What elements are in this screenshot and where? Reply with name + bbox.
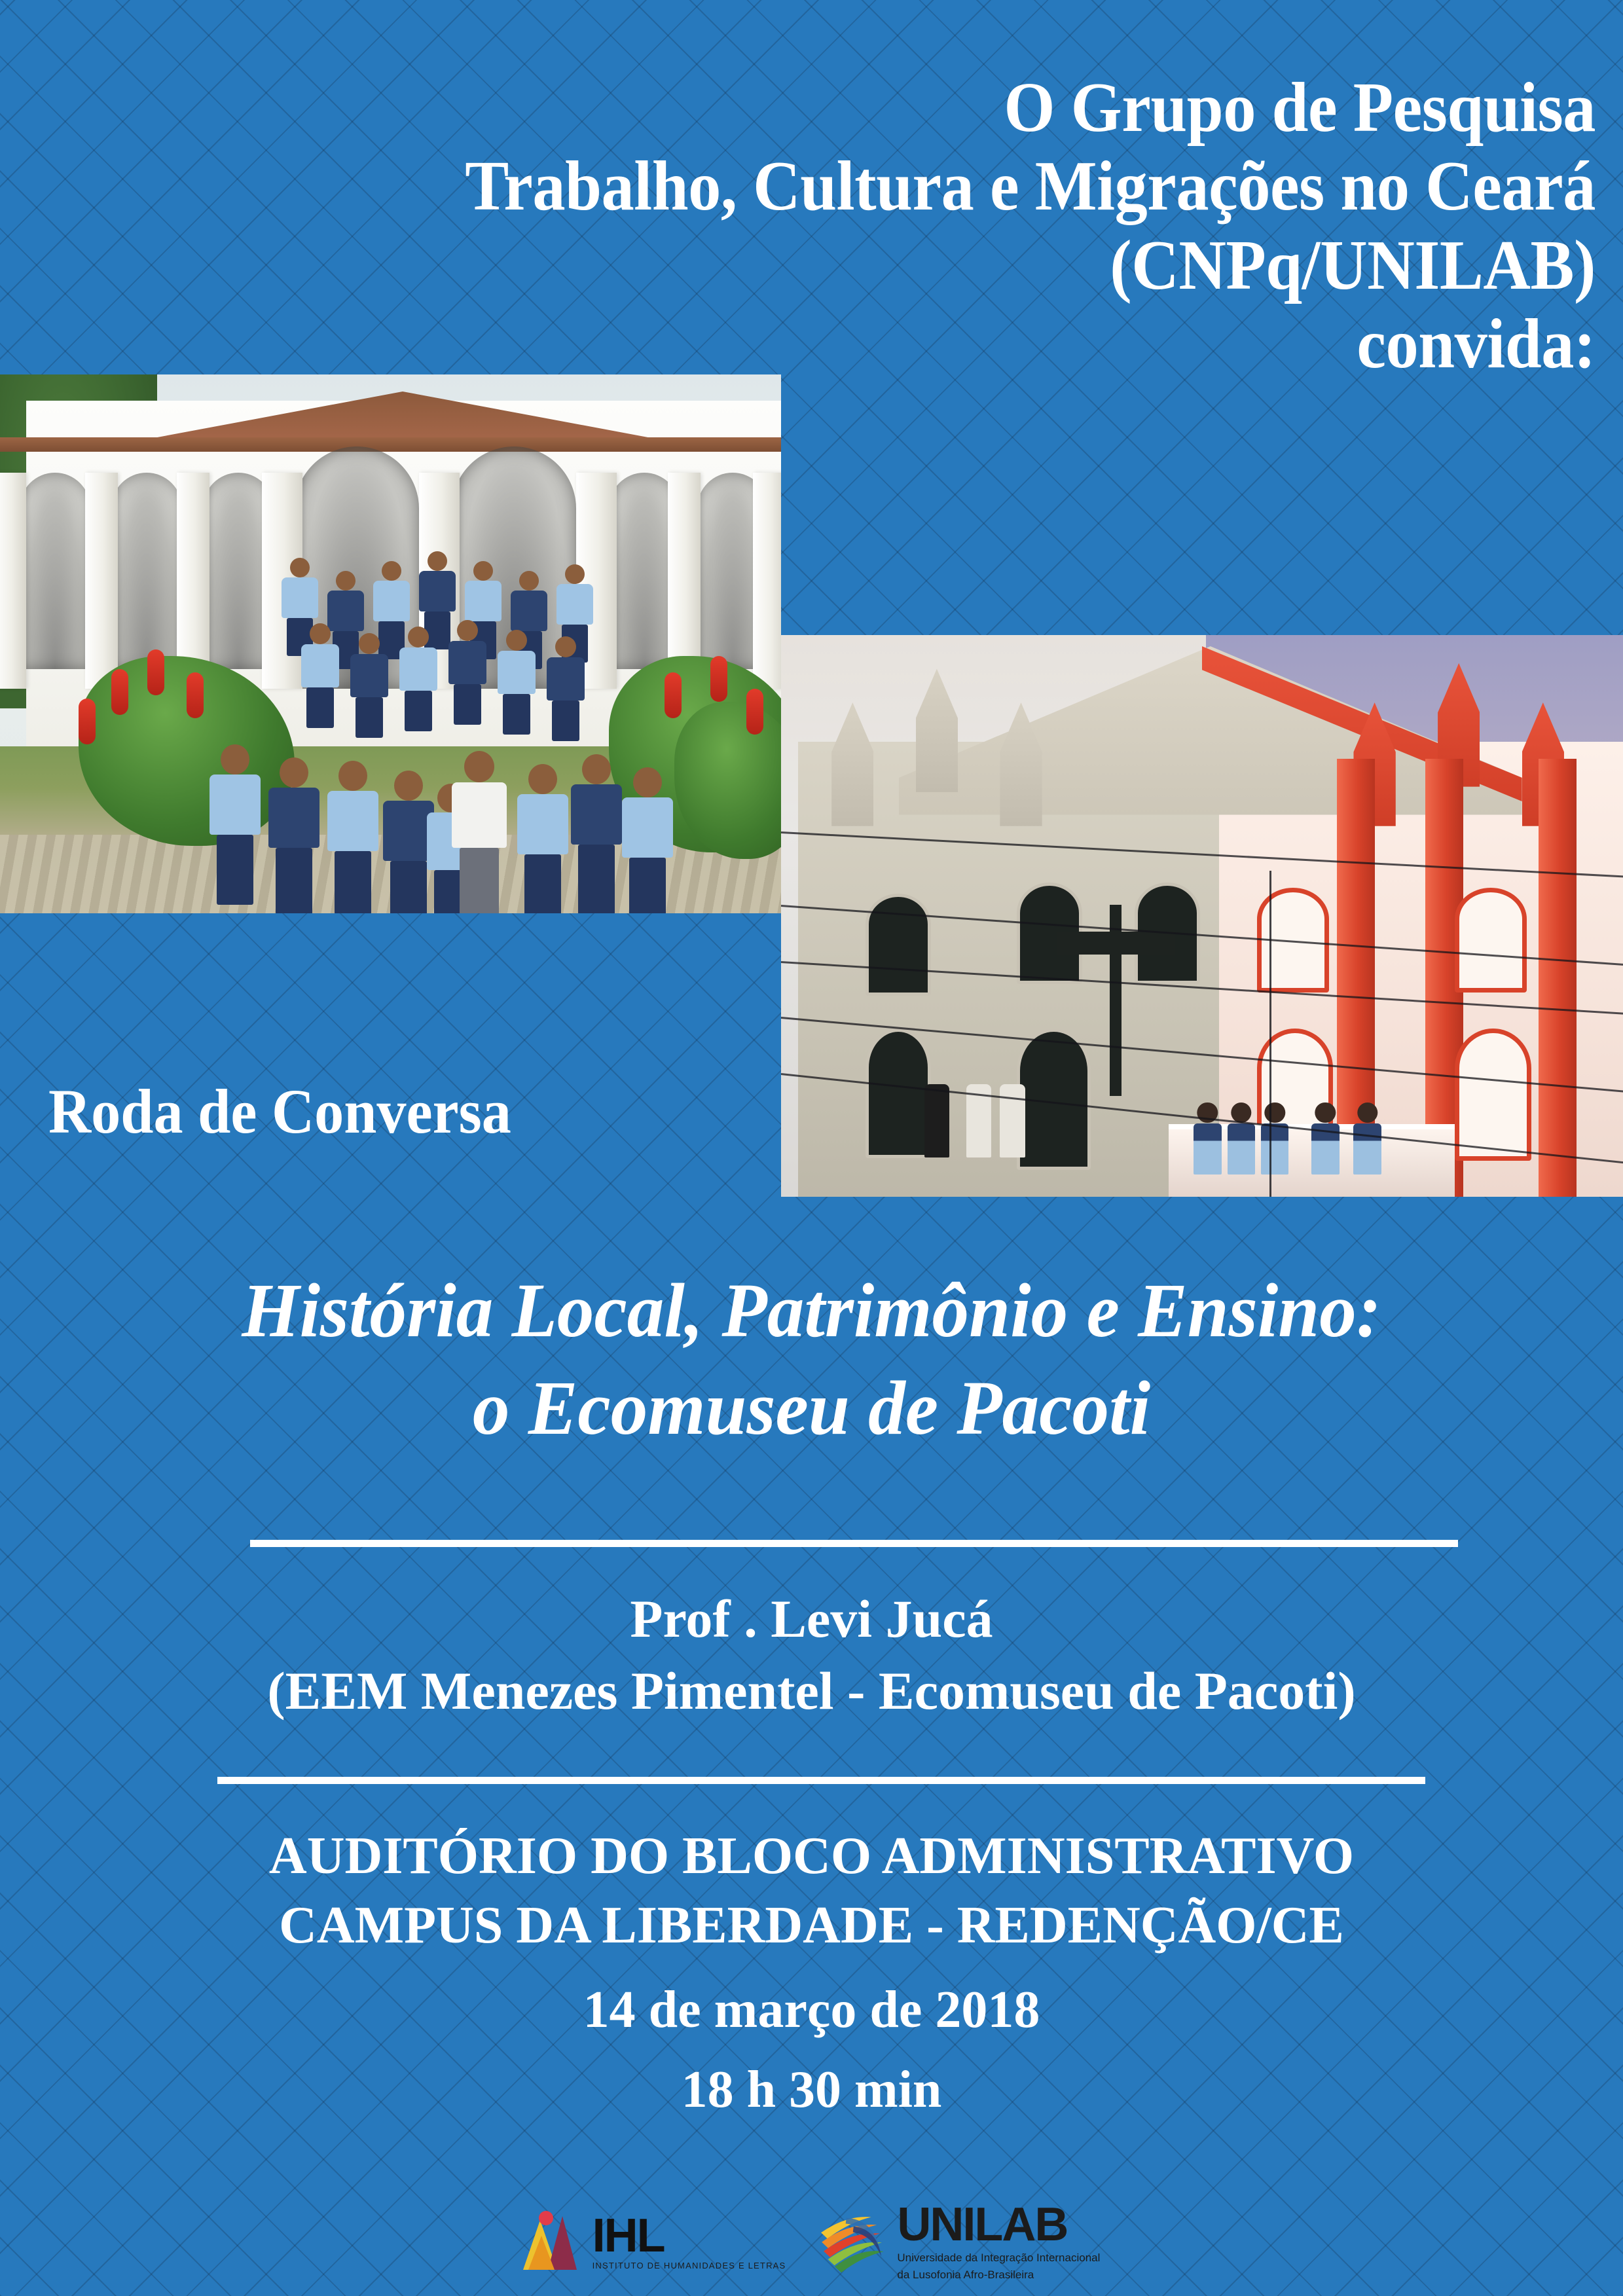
church-crucifix [1110,905,1122,1096]
church-window [866,894,931,996]
church-historic-figure [1000,1084,1025,1157]
church-flagpole [1269,871,1271,1197]
church-door [866,1029,931,1159]
students-group-photo [0,374,781,913]
photo-flower [111,669,128,715]
divider-below-speaker [217,1777,1425,1784]
photo-column [0,473,26,689]
photo-flower [710,656,727,702]
photo-student [210,744,261,905]
photo-column [85,473,118,689]
church-student [1261,1123,1288,1174]
photo-student [498,630,536,735]
photo-student [268,757,319,913]
photo-student [399,627,437,731]
header-line-2: Trabalho, Cultura e Migrações no Ceará [439,149,1596,224]
unilab-subtitle-line-2: da Lusofonia Afro-Brasileira [897,2268,1100,2282]
photo-student [350,633,388,738]
photo-flower [746,689,763,735]
church-student [1194,1123,1221,1174]
ihl-wordmark: IHL [593,2214,786,2259]
church-student [1228,1123,1255,1174]
photo-student [622,767,673,913]
unilab-logo: UNILAB Universidade da Integração Intern… [816,2202,1100,2282]
header-block: O Grupo de Pesquisa Trabalho, Cultura e … [352,71,1596,386]
photo-student [301,623,339,728]
speaker-affiliation: (EEM Menezes Pimentel - Ecomuseu de Paco… [0,1658,1623,1724]
ihl-logo: IHL INSTITUTO DE HUMANIDADES E LETRAS [523,2211,786,2274]
photo-flower [187,672,204,718]
logo-bar: IHL INSTITUTO DE HUMANIDADES E LETRAS [0,2202,1623,2282]
photo-flower [147,649,164,695]
poster-canvas: O Grupo de Pesquisa Trabalho, Cultura e … [0,0,1623,2296]
photo-column [753,473,781,689]
photo-teacher [452,751,507,913]
unilab-globe-icon [816,2208,888,2276]
photo-student [517,764,568,913]
ihl-subtitle: INSTITUTO DE HUMANIDADES E LETRAS [593,2261,786,2270]
speaker-name: Prof . Levi Jucá [0,1586,1623,1652]
ihl-text: IHL INSTITUTO DE HUMANIDADES E LETRAS [593,2214,786,2270]
event-title-line-2: o Ecomuseu de Pacoti [33,1360,1591,1457]
photo-student [547,636,585,741]
photo-arch [20,473,90,669]
photo-student [448,620,486,725]
photo-student [571,754,622,913]
church-door [1455,1029,1531,1161]
unilab-text: UNILAB Universidade da Integração Intern… [897,2202,1100,2282]
photo-flower [79,699,96,744]
church-window [1455,888,1527,993]
event-title-line-1: História Local, Patrimônio e Ensino: [33,1262,1591,1360]
photo-arch [111,473,182,669]
photo-flower [665,672,682,718]
church-pilaster [1539,759,1577,1197]
church-historic-figure [924,1084,950,1157]
photo-roof-edge [0,437,781,452]
speaker-block: Prof . Levi Jucá (EEM Menezes Pimentel -… [0,1586,1623,1724]
unilab-subtitle-line-1: Universidade da Integração Internacional [897,2251,1100,2265]
header-line-1: O Grupo de Pesquisa [439,71,1596,145]
photo-student [327,761,378,913]
event-kind-label: Roda de Conversa [48,1075,511,1148]
divider-above-speaker [250,1540,1458,1547]
event-time: 18 h 30 min [0,2055,1623,2124]
church-student [1353,1123,1381,1174]
event-title: História Local, Patrimônio e Ensino: o E… [0,1262,1623,1457]
church-facade-photo [781,635,1623,1197]
ihl-mark-icon [523,2211,583,2274]
venue-place-line-2: CAMPUS DA LIBERDADE - REDENÇÃO/CE [0,1891,1623,1960]
event-date: 14 de março de 2018 [0,1975,1623,2045]
header-line-3: (CNPq/UNILAB) [439,228,1596,303]
unilab-wordmark: UNILAB [897,2202,1100,2248]
venue-block: AUDITÓRIO DO BLOCO ADMINISTRATIVO CAMPUS… [0,1821,1623,2125]
venue-place-line-1: AUDITÓRIO DO BLOCO ADMINISTRATIVO [0,1821,1623,1891]
header-line-4: convida: [439,307,1596,382]
